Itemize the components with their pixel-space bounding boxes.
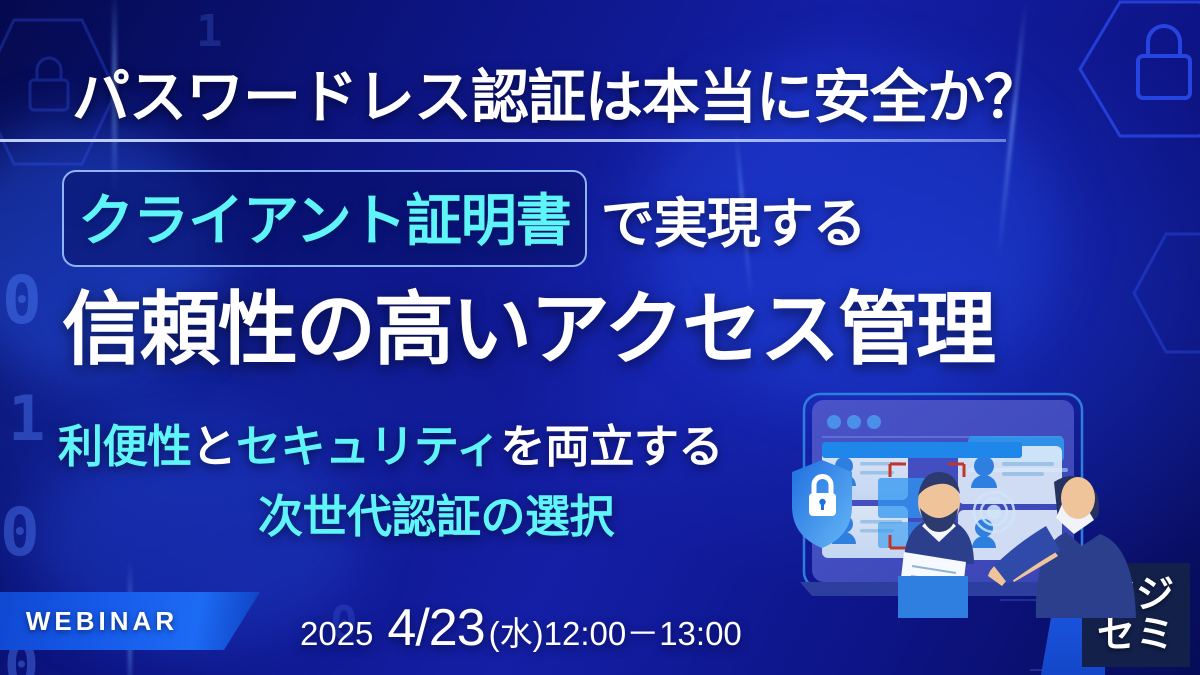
headline-line-1: パスワードレス認証は本当に安全か？ (72, 50, 1041, 134)
headline-line-2-tail: で実現する (601, 179, 866, 258)
webinar-badge-label: WEBINAR (26, 606, 194, 637)
logo-line-2: セミ (1097, 616, 1175, 654)
hexagon-outline-icon (1118, 228, 1200, 358)
event-date-row: 2025 4/23 (水)12:00－13:00 (300, 598, 742, 658)
facial-recognition-access-illustration (786, 386, 1146, 618)
subtitle-part-balance: を両立する (500, 421, 723, 472)
event-year: 2025 (300, 615, 373, 653)
subtitle-part-and: と (192, 421, 237, 472)
window-dot (847, 415, 861, 429)
binary-digit-4: 1 (196, 10, 225, 54)
headline-line-3: 信頼性の高いアクセス管理 (62, 265, 994, 381)
event-day: 4/23 (387, 598, 484, 658)
webinar-banner: 0 1 0 0 1 0 パスワードレス認証は本当に安 (0, 0, 1200, 675)
binary-digit-0: 0 (2, 268, 44, 334)
binary-digit-1: 1 (8, 388, 47, 450)
fingerprint-touch-icon (974, 492, 1014, 532)
subtitle-line-2: 次世代認証の選択 (258, 480, 614, 545)
webinar-badge: WEBINAR (0, 592, 260, 650)
subtitle-line-2-label: 次世代認証の選択 (258, 491, 614, 542)
subtitle-part-security: セキュリティ (236, 421, 500, 472)
subtitle-line-1: 利便性とセキュリティを両立する (58, 410, 723, 475)
highlight-box-label: クライアント証明書 (78, 189, 571, 252)
event-time: (水)12:00－13:00 (489, 607, 742, 655)
window-dot (867, 415, 881, 429)
document-papers (898, 552, 968, 618)
headline-line-2: クライアント証明書 で実現する (62, 170, 866, 267)
binary-digit-2: 0 (0, 500, 42, 566)
header-divider (0, 139, 1006, 142)
highlight-box: クライアント証明書 (62, 170, 587, 267)
subtitle-part-convenience: 利便性 (58, 421, 192, 472)
window-dot (827, 415, 841, 429)
hexagon-lock-icon (1060, 0, 1200, 144)
